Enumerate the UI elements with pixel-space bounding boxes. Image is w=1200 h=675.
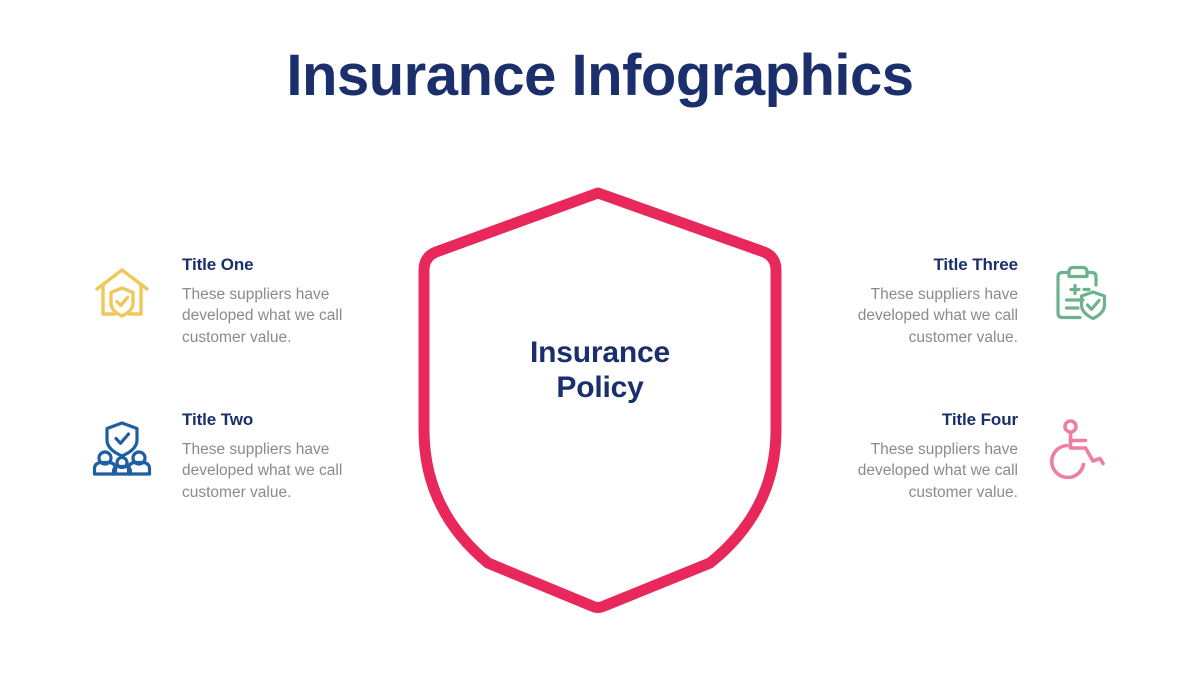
infographic-slide: Insurance Infographics Insurance Policy … [0, 0, 1200, 675]
info-item-two[interactable]: Title Two These suppliers have developed… [88, 410, 368, 503]
info-item-three-description: These suppliers have developed what we c… [832, 284, 1018, 348]
shield-label-line1: Insurance [410, 335, 790, 370]
central-shield: Insurance Policy [410, 180, 790, 620]
info-item-three-title: Title Three [832, 255, 1018, 275]
info-item-one[interactable]: Title One These suppliers have developed… [88, 255, 368, 348]
family-shield-check-icon [88, 414, 156, 482]
info-item-four[interactable]: Title Four These suppliers have develope… [832, 410, 1112, 503]
info-item-four-title: Title Four [832, 410, 1018, 430]
medical-clipboard-shield-icon [1044, 259, 1112, 327]
info-item-one-text: Title One These suppliers have developed… [182, 255, 368, 348]
house-shield-check-icon [88, 259, 156, 327]
info-item-two-description: These suppliers have developed what we c… [182, 439, 368, 503]
info-item-two-text: Title Two These suppliers have developed… [182, 410, 368, 503]
info-item-four-description: These suppliers have developed what we c… [832, 439, 1018, 503]
info-item-two-title: Title Two [182, 410, 368, 430]
info-item-three-text: Title Three These suppliers have develop… [832, 255, 1018, 348]
shield-label: Insurance Policy [410, 335, 790, 406]
info-item-one-description: These suppliers have developed what we c… [182, 284, 368, 348]
page-title: Insurance Infographics [0, 44, 1200, 108]
info-item-four-text: Title Four These suppliers have develope… [832, 410, 1018, 503]
shield-label-line2: Policy [410, 370, 790, 405]
wheelchair-accessibility-icon [1044, 414, 1112, 482]
info-item-three[interactable]: Title Three These suppliers have develop… [832, 255, 1112, 348]
info-item-one-title: Title One [182, 255, 368, 275]
